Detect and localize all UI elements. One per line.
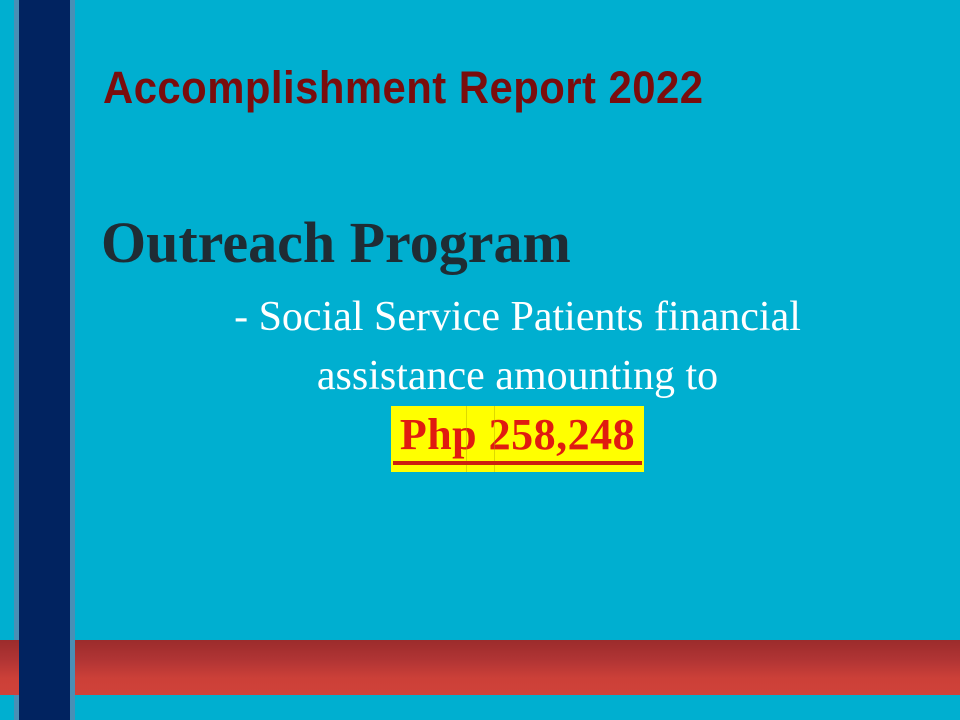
body-text-line-2: assistance amounting to [75,347,960,406]
slide-content-area: Accomplishment Report 2022 Outreach Prog… [75,0,960,720]
amount-underline [393,461,642,465]
amount-value: Php 258,248 [400,412,635,458]
amount-highlight-box: Php 258,248 [391,406,644,472]
presentation-slide: Accomplishment Report 2022 Outreach Prog… [0,0,960,720]
slide-title: Accomplishment Report 2022 [103,62,875,114]
sidebar-navy-bar-overlay [19,0,70,720]
body-text-line-1: - Social Service Patients financial [75,288,960,347]
sidebar-accent-stripe-right-overlay [70,0,75,720]
section-heading: Outreach Program [101,212,571,274]
body-text-block: - Social Service Patients financial assi… [75,288,960,406]
amount-row: Php 258,248 [75,406,960,472]
